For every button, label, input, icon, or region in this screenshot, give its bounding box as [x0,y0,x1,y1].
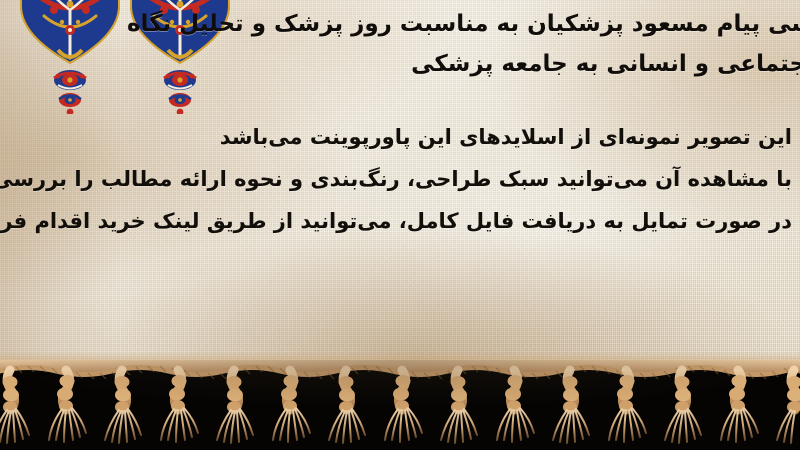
carpet-fringe-icon [0,360,800,450]
title-line-1: سی پیام مسعود پزشکیان به مناسبت روز پزشک… [0,4,800,44]
title-line-2: اجتماعی و انسانی به جامعه پزشکی [0,44,800,84]
slide-title: سی پیام مسعود پزشکیان به مناسبت روز پزشک… [0,4,800,84]
carpet-fringe-band [0,360,800,450]
body-line-1: این تصویر نمونه‌ای از اسلایدهای این پاور… [0,116,792,158]
body-line-3: در صورت تمایل به دریافت فایل کامل، می‌تو… [0,200,792,242]
body-line-2: با مشاهده آن می‌توانید سبک طراحی، رنگ‌بن… [0,158,792,200]
text-layer: سی پیام مسعود پزشکیان به مناسبت روز پزشک… [0,0,800,372]
slide-body: این تصویر نمونه‌ای از اسلایدهای این پاور… [0,116,792,242]
tassel-group [0,370,800,443]
slide-canvas: سی پیام مسعود پزشکیان به مناسبت روز پزشک… [0,0,800,450]
